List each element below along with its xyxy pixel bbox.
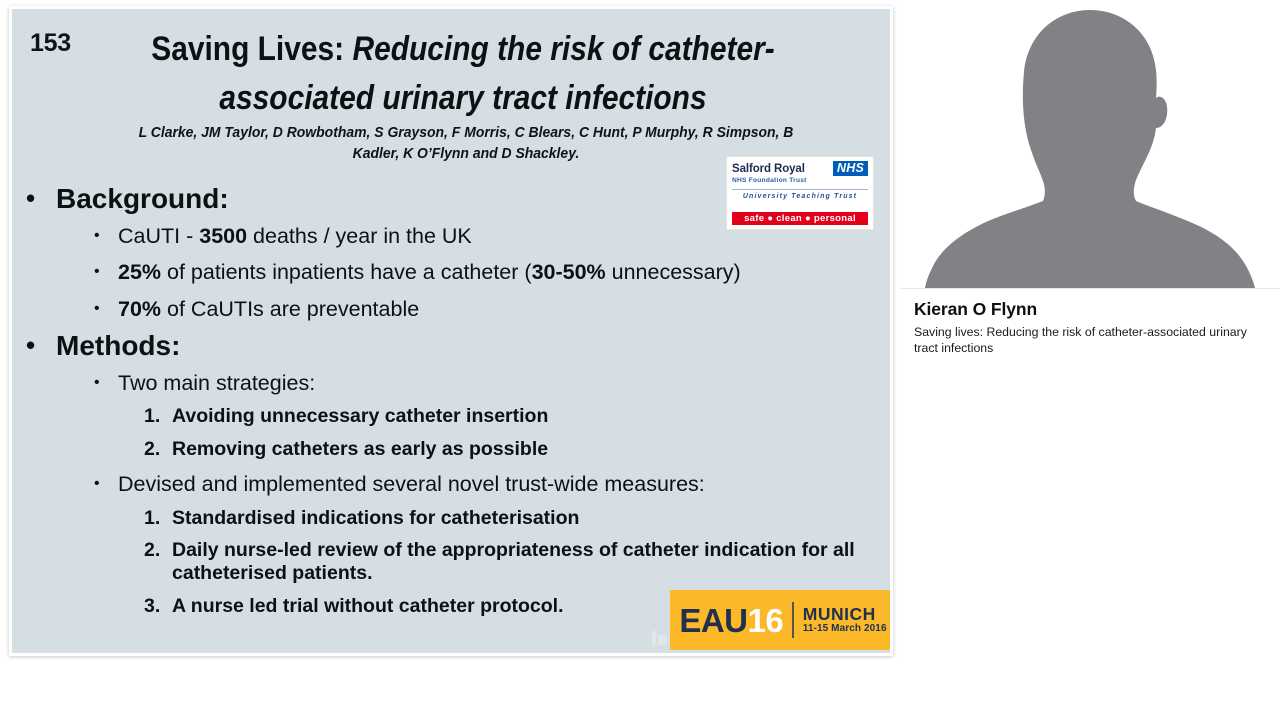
methods-measure-2: Daily nurse-led review of the appropriat…: [172, 539, 880, 586]
slide-panel[interactable]: 153 Saving Lives: Reducing the risk of c…: [9, 6, 893, 656]
slide-watermark-icon: [652, 629, 668, 647]
section-heading-background: • Background:: [26, 185, 880, 213]
list-item: 2. Daily nurse-led review of the appropr…: [26, 539, 880, 586]
presentation-viewer: 153 Saving Lives: Reducing the risk of c…: [0, 0, 1280, 720]
bullet-icon: •: [26, 185, 56, 212]
list-item: • CaUTI - 3500 deaths / year in the UK: [26, 224, 880, 249]
nhs-logo-top-row: Salford Royal NHS: [732, 161, 868, 176]
list-item: • Devised and implemented several novel …: [26, 472, 880, 497]
bullet-icon: •: [26, 332, 56, 359]
speaker-avatar: [900, 0, 1280, 288]
list-number: 3.: [144, 595, 172, 618]
list-number: 1.: [144, 507, 172, 530]
bullet-icon: •: [94, 472, 118, 495]
slide-body: • Background: • CaUTI - 3500 deaths / ye…: [26, 175, 880, 618]
methods-measure-1: Standardised indications for catheterisa…: [172, 507, 880, 530]
bullet-text-bold: 70%: [118, 297, 161, 321]
list-number: 1.: [144, 405, 172, 428]
section-heading-methods-label: Methods:: [56, 332, 880, 360]
slide-canvas: 153 Saving Lives: Reducing the risk of c…: [12, 9, 890, 653]
list-number: 2.: [144, 539, 172, 562]
eau-brand-mark: EAU16: [679, 604, 783, 637]
eau-city-label: MUNICH: [803, 605, 887, 623]
list-item: • Two main strategies:: [26, 371, 880, 396]
slide-title-italic-2: associated urinary tract infections: [219, 79, 706, 117]
bullet-icon: •: [94, 260, 118, 283]
bullet-text-post: unnecessary): [606, 260, 741, 284]
list-item: 2. Removing catheters as early as possib…: [26, 438, 880, 461]
nhs-organisation-name: Salford Royal: [732, 163, 805, 175]
person-placeholder-icon: [900, 0, 1280, 288]
slide-title-line-1: Saving Lives: Reducing the risk of cathe…: [142, 25, 784, 74]
eau-logo-divider: [792, 602, 794, 638]
eau-dates-label: 11-15 March 2016: [803, 624, 887, 635]
bullet-text-bold-2: 30-50%: [532, 260, 606, 284]
bullet-text-bold: 3500: [199, 224, 247, 248]
eau16-congress-logo: EAU16 MUNICH 11-15 March 2016: [670, 590, 890, 650]
bullet-icon: •: [94, 224, 118, 247]
section-heading-background-label: Background:: [56, 185, 880, 213]
speaker-meta: Kieran O Flynn Saving lives: Reducing th…: [900, 289, 1280, 356]
bullet-icon: •: [94, 371, 118, 394]
author-list: L Clarke, JM Taylor, D Rowbotham, S Gray…: [133, 122, 799, 165]
list-number: 2.: [144, 438, 172, 461]
background-bullet-2: 25% of patients inpatients have a cathet…: [118, 260, 880, 285]
list-item: • 70% of CaUTIs are preventable: [26, 297, 880, 322]
nhs-badge-icon: NHS: [833, 161, 868, 176]
methods-strategy-2: Removing catheters as early as possible: [172, 438, 880, 461]
speaker-talk-title: Saving lives: Reducing the risk of cathe…: [914, 324, 1259, 356]
list-item: 1. Standardised indications for catheter…: [26, 507, 880, 530]
bullet-text-mid: of patients inpatients have a catheter (: [161, 260, 532, 284]
methods-bullet-1: Two main strategies:: [118, 371, 880, 396]
eau-location-block: MUNICH 11-15 March 2016: [803, 605, 887, 635]
bullet-text-post: of CaUTIs are preventable: [161, 297, 419, 321]
bullet-text-bold: 25%: [118, 260, 161, 284]
section-heading-methods: • Methods:: [26, 332, 880, 360]
speaker-name: Kieran O Flynn: [914, 300, 1266, 319]
bullet-text-post: deaths / year in the UK: [247, 224, 472, 248]
eau-year-text: 16: [748, 602, 784, 639]
bullet-icon: •: [94, 297, 118, 320]
bullet-text-pre: CaUTI -: [118, 224, 199, 248]
slide-title-regular: Saving Lives:: [151, 30, 344, 68]
eau-brand-text: EAU: [679, 602, 747, 639]
list-item: • 25% of patients inpatients have a cath…: [26, 260, 880, 285]
slide-title-line-2: associated urinary tract infections: [142, 74, 784, 123]
list-item: 1. Avoiding unnecessary catheter inserti…: [26, 405, 880, 428]
slide-title-italic-1: Reducing the risk of catheter-: [344, 30, 775, 68]
background-bullet-1: CaUTI - 3500 deaths / year in the UK: [118, 224, 880, 249]
slide-title: Saving Lives: Reducing the risk of cathe…: [98, 25, 828, 122]
speaker-panel: Kieran O Flynn Saving lives: Reducing th…: [900, 0, 1280, 720]
methods-strategy-1: Avoiding unnecessary catheter insertion: [172, 405, 880, 428]
slide-number: 153: [30, 29, 71, 58]
background-bullet-3: 70% of CaUTIs are preventable: [118, 297, 880, 322]
methods-bullet-2: Devised and implemented several novel tr…: [118, 472, 880, 497]
